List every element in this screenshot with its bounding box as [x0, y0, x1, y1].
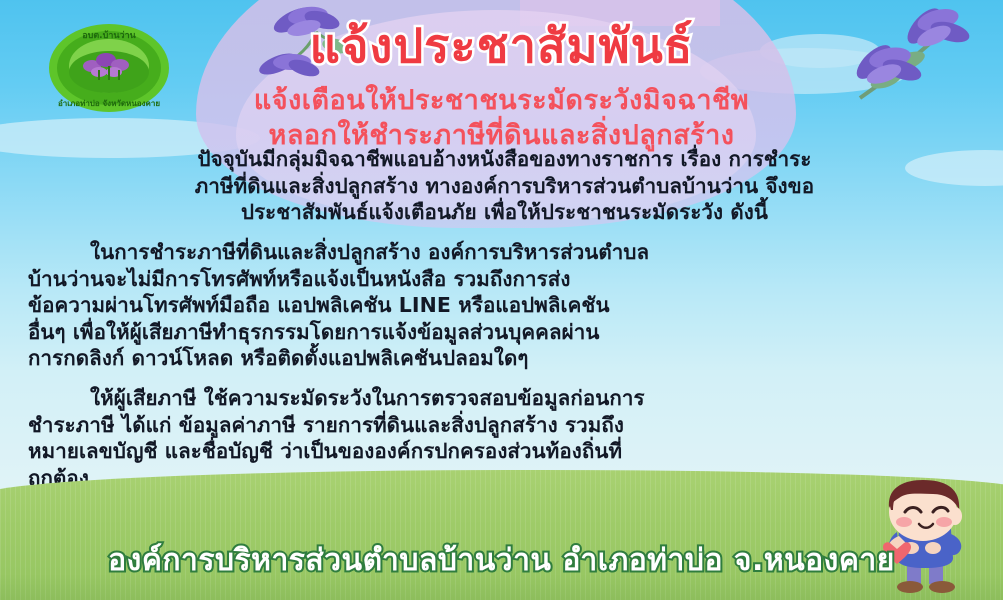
page-title: แจ้งประชาสัมพันธ์ — [0, 22, 1003, 71]
announcement-body: ปัจจุบันมีกลุ่มมิจฉาชีพแอบอ้างหนังสือของ… — [28, 146, 981, 505]
announcement-poster: อบต.บ้านว่าน อำเภอท่าบ่อ จังหวัดหนองคาย … — [0, 0, 1003, 600]
paragraph: ปัจจุบันมีกลุ่มมิจฉาชีพแอบอ้างหนังสือของ… — [28, 146, 981, 226]
body-line: ชำระภาษี ได้แก่ ข้อมูลค่าภาษี รายการที่ด… — [28, 412, 981, 439]
body-line: การกดลิงก์ ดาวน์โหลด หรือติดตั้งแอปพลิเค… — [28, 345, 981, 372]
poster-subtitle: แจ้งเตือนให้ประชาชนระมัดระวังมิจฉาชีพ หล… — [0, 84, 1003, 153]
subtitle-line: แจ้งเตือนให้ประชาชนระมัดระวังมิจฉาชีพ — [0, 84, 1003, 119]
body-line: บ้านว่านจะไม่มีการโทรศัพท์หรือแจ้งเป็นหน… — [28, 266, 981, 293]
body-line: ประชาสัมพันธ์แจ้งเตือนภัย เพื่อให้ประชาช… — [28, 199, 981, 226]
body-line: ปัจจุบันมีกลุ่มมิจฉาชีพแอบอ้างหนังสือของ… — [28, 146, 981, 173]
paragraph: ในการชำระภาษีที่ดินและสิ่งปลูกสร้าง องค์… — [28, 239, 981, 372]
footer-organization-name: องค์การบริหารส่วนตำบลบ้านว่าน อำเภอท่าบ่… — [0, 537, 1003, 584]
body-line: หมายเลขบัญชี และชื่อบัญชี ว่าเป็นขององค์… — [28, 438, 981, 465]
body-line: อื่นๆ เพื่อให้ผู้เสียภาษีทำธุรกรรมโดยการ… — [28, 319, 981, 346]
body-line: ข้อความผ่านโทรศัพท์มือถือ แอปพลิเคชัน LI… — [28, 292, 981, 319]
body-line: ภาษีที่ดินและสิ่งปลูกสร้าง ทางองค์การบริ… — [28, 173, 981, 200]
body-line: ในการชำระภาษีที่ดินและสิ่งปลูกสร้าง องค์… — [28, 239, 981, 266]
body-line: ให้ผู้เสียภาษี ใช้ความระมัดระวังในการตรว… — [28, 385, 981, 412]
